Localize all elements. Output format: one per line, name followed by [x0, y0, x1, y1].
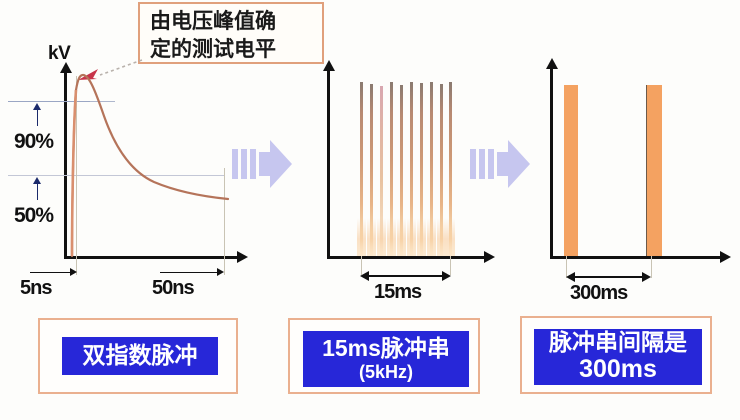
chart1-time-label-5ns: 5ns: [20, 277, 51, 300]
callout-line-2: 定的测试电平: [150, 36, 312, 64]
chart1-50ns-leader: [160, 272, 222, 273]
caption-label-3: 脉冲串间隔是: [549, 330, 687, 356]
caption-box-3: 脉冲串间隔是 300ms: [520, 316, 712, 394]
chart2-dimension-label: 15ms: [374, 281, 421, 304]
transition-arrow-1: [232, 140, 294, 188]
caption-banner-1: 双指数脉冲: [62, 337, 218, 375]
chart1-5ns-leader: [30, 272, 74, 273]
chart3-dimension-head-right: [642, 272, 651, 282]
chart2-dimension-head-right: [442, 271, 451, 281]
chart3-burst-block-1: [564, 85, 578, 256]
transition-arrow-2: [470, 140, 532, 188]
diagram-canvas: 由电压峰值确 定的测试电平 kV 90% 50% 5ns 50ns: [0, 0, 740, 420]
chart1-90-marker-head: [33, 103, 41, 110]
chart1-50-marker-line: [37, 182, 38, 200]
chart1-level-label-90: 90%: [14, 130, 53, 154]
chart2-dimension-line: [368, 275, 444, 277]
callout-line-1: 由电压峰值确: [150, 8, 312, 36]
caption-sublabel-2: (5kHz): [359, 362, 413, 383]
callout-box: 由电压峰值确 定的测试电平: [138, 2, 324, 64]
caption-label-2: 15ms脉冲串: [322, 336, 450, 362]
chart2-y-axis: [327, 70, 330, 259]
chart1-time-label-50ns: 50ns: [152, 277, 194, 300]
chart3-x-axis-arrow: [720, 251, 731, 263]
chart3-y-axis: [550, 68, 553, 259]
chart1-5ns-leader-head: [70, 268, 77, 276]
caption-label-1: 双指数脉冲: [83, 343, 198, 369]
chart2-dimension-head-left: [360, 271, 369, 281]
caption-biglabel-3: 300ms: [579, 356, 657, 384]
chart1-50-marker-head: [33, 177, 41, 184]
chart1-pulse-curve: [62, 72, 242, 258]
chart1-level-label-50: 50%: [14, 204, 53, 228]
chart1-90-marker-line: [37, 108, 38, 126]
chart3-dimension-label: 300ms: [570, 282, 627, 305]
chart3-dimension-head-left: [566, 272, 575, 282]
chart3-guide-2: [651, 256, 652, 278]
chart2-x-axis: [327, 256, 486, 259]
caption-banner-3: 脉冲串间隔是 300ms: [534, 329, 702, 385]
chart3-dimension-line: [574, 276, 644, 278]
chart2-x-axis-arrow: [484, 251, 495, 263]
chart3-burst-block-2: [646, 85, 662, 256]
chart1-50ns-leader-head: [217, 268, 224, 276]
caption-box-2: 15ms脉冲串 (5kHz): [288, 318, 480, 394]
caption-box-1: 双指数脉冲: [38, 318, 238, 394]
chart2-pulse-train: [359, 82, 454, 256]
chart3-x-axis: [550, 256, 722, 259]
caption-banner-2: 15ms脉冲串 (5kHz): [303, 331, 469, 387]
